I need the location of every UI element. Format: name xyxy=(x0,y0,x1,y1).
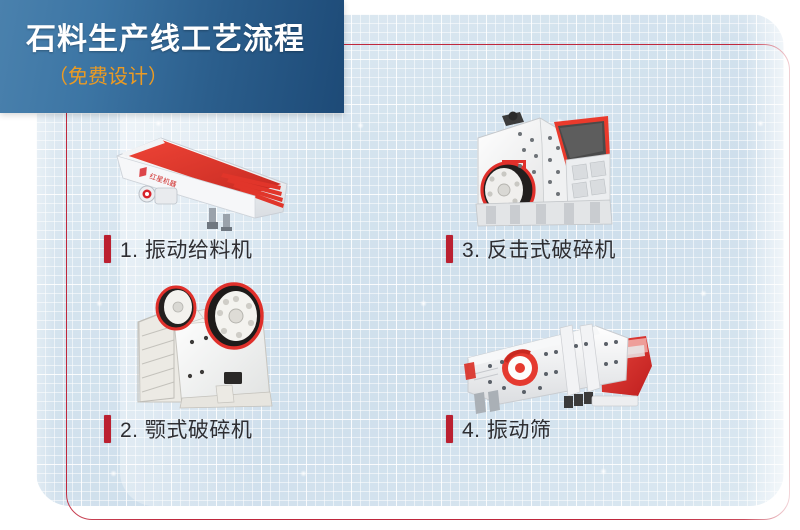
jaw-crusher-image xyxy=(112,280,292,410)
promo-banner: 红星机器 xyxy=(0,0,800,530)
item-label-text: 2. 颚式破碎机 xyxy=(120,414,252,444)
item-label-2[interactable]: 2. 颚式破碎机 xyxy=(104,414,252,444)
accent-bar-icon xyxy=(104,415,111,443)
item-label-text: 1. 振动给料机 xyxy=(120,234,252,264)
item-label-1[interactable]: 1. 振动给料机 xyxy=(104,234,252,264)
vibrating-screen-image xyxy=(460,300,655,418)
accent-bar-icon xyxy=(446,415,453,443)
item-label-3[interactable]: 3. 反击式破碎机 xyxy=(446,234,616,264)
accent-bar-icon xyxy=(446,235,453,263)
impact-crusher-image xyxy=(458,108,638,234)
item-label-text: 3. 反击式破碎机 xyxy=(462,234,616,264)
page-title: 石料生产线工艺流程 xyxy=(26,14,305,58)
item-label-4[interactable]: 4. 振动筛 xyxy=(446,414,551,444)
header-badge: 石料生产线工艺流程 （免费设计） xyxy=(0,0,344,113)
page-subtitle: （免费设计） xyxy=(48,60,168,89)
accent-bar-icon xyxy=(104,235,111,263)
item-label-text: 4. 振动筛 xyxy=(462,414,551,444)
vibrating-feeder-image: 红星机器 xyxy=(105,126,295,231)
